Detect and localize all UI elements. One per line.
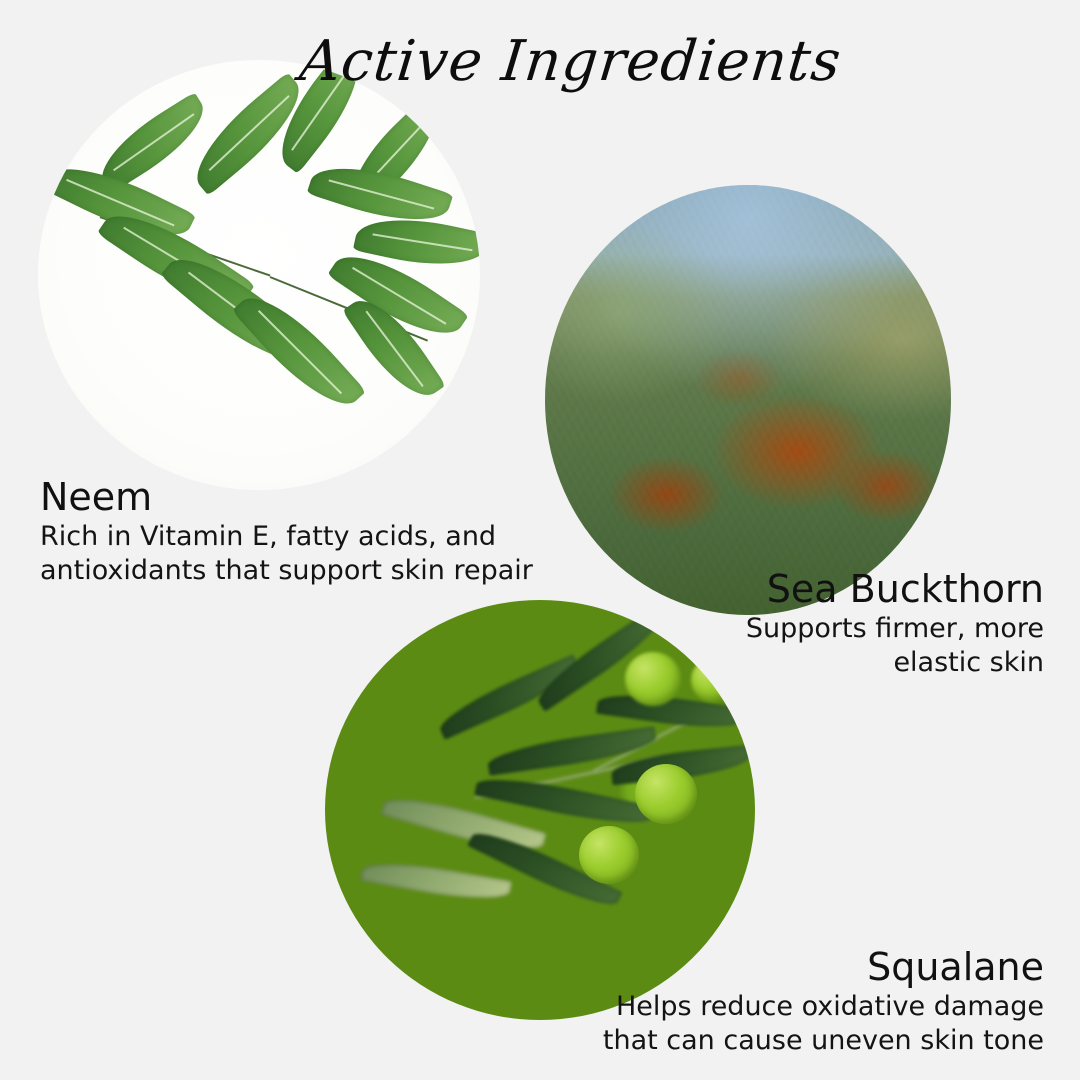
ingredient-block-seabuckthorn: Sea Buckthorn Supports firmer, more elas…	[746, 566, 1044, 680]
neem-leaves-photo	[38, 60, 480, 490]
ingredient-image-neem	[38, 60, 480, 490]
description-line: antioxidants that support skin repair	[40, 554, 533, 588]
description-line: Helps reduce oxidative damage	[603, 990, 1044, 1024]
olive-leaf	[360, 855, 512, 907]
ingredient-name-squalane: Squalane	[603, 944, 1044, 990]
neem-leaflet	[232, 280, 367, 422]
olive-fruit	[691, 658, 735, 702]
olive-fruit	[579, 826, 639, 884]
page-title: Active Ingredients	[296, 24, 804, 100]
description-line: Rich in Vitamin E, fatty acids, and	[40, 520, 533, 554]
ingredient-block-squalane: Squalane Helps reduce oxidative damage t…	[603, 944, 1044, 1058]
olive-fruit	[635, 764, 697, 824]
ingredient-description-squalane: Helps reduce oxidative damage that can c…	[603, 990, 1044, 1058]
description-line: Supports firmer, more	[746, 612, 1044, 646]
ingredient-description-seabuckthorn: Supports firmer, more elastic skin	[746, 612, 1044, 680]
description-line: that can cause uneven skin tone	[603, 1024, 1044, 1058]
ingredient-block-neem: Neem Rich in Vitamin E, fatty acids, and…	[40, 474, 533, 588]
description-line: elastic skin	[746, 646, 1044, 680]
ingredient-description-neem: Rich in Vitamin E, fatty acids, and anti…	[40, 520, 533, 588]
ingredient-image-seabuckthorn	[545, 185, 951, 615]
ingredient-name-seabuckthorn: Sea Buckthorn	[746, 566, 1044, 612]
infographic-canvas: Active Ingredients	[0, 0, 1080, 1080]
olive-fruit	[625, 652, 681, 706]
ingredient-name-neem: Neem	[40, 474, 533, 520]
sea-buckthorn-bush-photo	[545, 185, 951, 615]
